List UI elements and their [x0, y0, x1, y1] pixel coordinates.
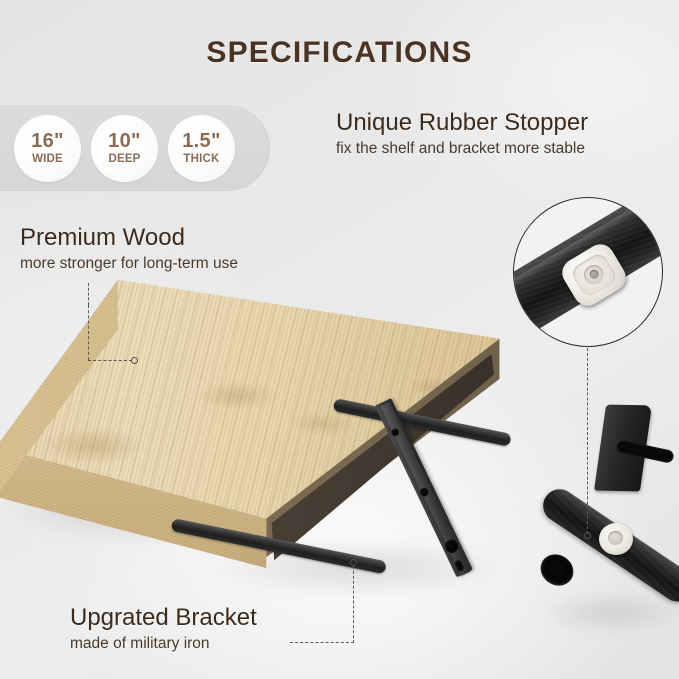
leader-dot-wood [131, 357, 138, 364]
callout-stopper-subtext: fix the shelf and bracket more stable [336, 140, 588, 159]
badge-depth-unit: DEEP [108, 154, 140, 166]
leader-dot-stopper [584, 532, 591, 539]
badge-thickness-value: 1.5" [182, 131, 221, 151]
leader-line-wood-vertical [88, 283, 89, 305]
badge-depth-value: 10" [108, 131, 141, 151]
callout-bracket-heading: Upgrated Bracket [70, 605, 257, 632]
callout-wood-heading: Premium Wood [20, 225, 238, 252]
rubber-stopper-magnifier [513, 197, 663, 347]
badge-width-unit: WIDE [32, 154, 63, 166]
secondary-bracket-illustration [536, 405, 679, 635]
callout-premium-wood: Premium Wood more stronger for long-term… [20, 225, 238, 273]
infographic-canvas: SPECIFICATIONS 16" WIDE 10" DEEP 1.5" TH… [0, 0, 679, 679]
badge-thickness: 1.5" THICK [168, 115, 235, 182]
secondary-bracket-shadow [536, 590, 679, 635]
secondary-bracket-rubber-stopper [599, 523, 633, 555]
badge-depth: 10" DEEP [91, 115, 158, 182]
leader-line-wood-vertical-2 [88, 305, 89, 360]
leader-dot-bracket [350, 559, 357, 566]
badge-thickness-unit: THICK [183, 154, 219, 166]
spec-badge-list: 16" WIDE 10" DEEP 1.5" THICK [0, 105, 270, 191]
leader-line-bracket-vertical [353, 566, 354, 643]
leader-line-bracket-horizontal [290, 642, 354, 643]
callout-rubber-stopper: Unique Rubber Stopper fix the shelf and … [336, 110, 588, 158]
page-title: SPECIFICATIONS [0, 36, 679, 70]
spec-badge-panel: 16" WIDE 10" DEEP 1.5" THICK [0, 105, 270, 191]
leader-line-stopper [587, 348, 588, 534]
secondary-bracket-tube-opening [535, 548, 580, 592]
callout-wood-subtext: more stronger for long-term use [20, 255, 238, 274]
callout-upgraded-bracket: Upgrated Bracket made of military iron [70, 605, 257, 653]
callout-bracket-subtext: made of military iron [70, 635, 257, 654]
leader-line-wood-horizontal-2 [88, 360, 132, 361]
bracket-rear-tube [333, 398, 512, 447]
badge-width-value: 16" [31, 131, 64, 151]
callout-stopper-heading: Unique Rubber Stopper [336, 110, 588, 137]
main-bracket-illustration [248, 388, 530, 596]
badge-width: 16" WIDE [14, 115, 81, 182]
